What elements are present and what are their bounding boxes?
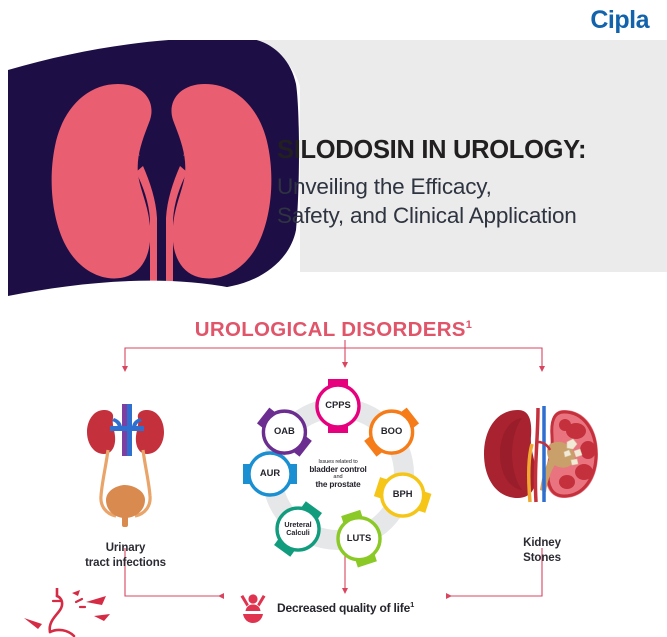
- right-disorder-block: Kidney Stones: [472, 398, 612, 566]
- left-caption-line-2: tract infections: [58, 556, 193, 571]
- outcome-caption-superscript: 1: [410, 600, 414, 609]
- left-caption-line-1: Urinary: [58, 541, 193, 556]
- center-line-2: bladder control: [290, 465, 386, 474]
- outcome-caption-text: Decreased quality of life: [277, 601, 410, 615]
- outcome-row: Decreased quality of life1: [238, 590, 414, 624]
- wheel-node-ring-ureteral: [277, 508, 319, 550]
- wheel-node-ring-oab: [263, 411, 305, 453]
- right-disorder-caption: Kidney Stones: [472, 536, 612, 566]
- wheel-node-ring-cpps: [317, 385, 359, 427]
- urinary-tract-icon: [58, 388, 193, 528]
- center-line-4: the prostate: [290, 480, 386, 489]
- header-section: Cipla: [0, 0, 667, 340]
- person-raised-arms-icon: [238, 590, 268, 624]
- wheel-node-ring-luts: [338, 518, 380, 560]
- left-disorder-block: Urinary tract infections: [58, 388, 193, 571]
- sparkle-line-art-icon: [24, 588, 119, 637]
- wheel-node-ring-aur: [249, 453, 291, 495]
- urological-disorders-wheel: Issues related to bladder control and th…: [243, 378, 433, 570]
- title-block: SILODOSIN IN UROLOGY: Unveiling the Effi…: [277, 136, 657, 231]
- section-heading: UROLOGICAL DISORDERS1: [0, 318, 667, 342]
- cipla-logo-text: Cipla: [529, 4, 649, 36]
- outcome-caption: Decreased quality of life1: [277, 600, 414, 615]
- wheel-center-text: Issues related to bladder control and th…: [290, 459, 386, 489]
- left-disorder-caption: Urinary tract infections: [58, 541, 193, 571]
- section-heading-superscript: 1: [466, 319, 472, 331]
- page-subtitle: Unveiling the Efficacy, Safety, and Clin…: [277, 172, 657, 231]
- right-caption-line-1: Kidney: [472, 536, 612, 551]
- section-heading-text: UROLOGICAL DISORDERS: [195, 318, 466, 341]
- page-title: SILODOSIN IN UROLOGY:: [277, 136, 657, 165]
- wheel-node-ring-bph: [382, 474, 424, 516]
- infographic-page: Cipla: [0, 0, 667, 637]
- connector-top-bus: [125, 348, 542, 357]
- wheel-node-ring-boo: [371, 411, 413, 453]
- subtitle-line-1: Unveiling the Efficacy,: [277, 172, 657, 202]
- kidney-stones-icon: [472, 398, 612, 523]
- subtitle-line-2: Safety, and Clinical Application: [277, 201, 657, 231]
- right-caption-line-2: Stones: [472, 551, 612, 566]
- cipla-logo: Cipla: [529, 4, 649, 36]
